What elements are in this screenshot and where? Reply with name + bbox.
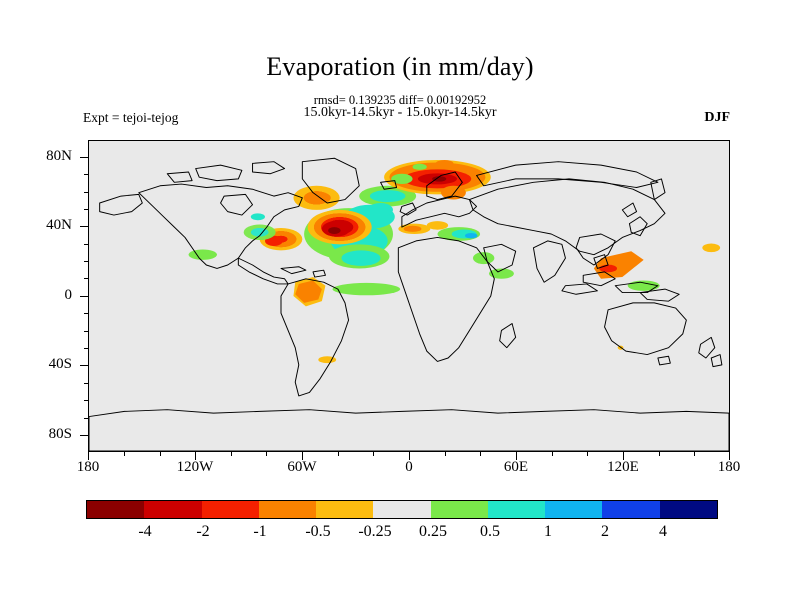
experiment-label: Expt = tejoi-tejog [83, 110, 178, 126]
xtick-label-180e: 180 [694, 459, 764, 476]
season-label: DJF [704, 110, 730, 126]
colorbar-label-1: -2 [173, 523, 233, 541]
colorbar-band-5 [373, 501, 430, 518]
colorbar-band-3 [259, 501, 316, 518]
colorbar-label-9: 4 [633, 523, 693, 541]
xtick-label-180w: 180 [53, 459, 123, 476]
xtick-label-120e: 120E [588, 459, 658, 476]
ytick-label-40n: 40N [12, 217, 72, 234]
colorbar [86, 500, 718, 519]
world-map-svg [89, 141, 729, 451]
xtick-label-0: 0 [374, 459, 444, 476]
xtick-label-60e: 60E [481, 459, 551, 476]
colorbar-band-9 [602, 501, 659, 518]
ytick-label-40s: 40S [12, 356, 72, 373]
colorbar-band-2 [202, 501, 259, 518]
colorbar-band-4 [316, 501, 373, 518]
colorbar-label-7: 1 [518, 523, 578, 541]
colorbar-band-7 [488, 501, 545, 518]
colorbar-label-8: 2 [575, 523, 635, 541]
ytick-label-80n: 80N [12, 148, 72, 165]
colorbar-label-3: -0.5 [288, 523, 348, 541]
colorbar-label-4: -0.25 [345, 523, 405, 541]
colorbar-band-8 [545, 501, 602, 518]
map-plot-area [88, 140, 730, 452]
xtick-label-60w: 60W [267, 459, 337, 476]
colorbar-label-6: 0.5 [460, 523, 520, 541]
colorbar-label-5: 0.25 [403, 523, 463, 541]
xtick-label-120w: 120W [160, 459, 230, 476]
ytick-label-80s: 80S [12, 426, 72, 443]
figure-title: Evaporation (in mm/day) [0, 52, 800, 82]
colorbar-label-2: -1 [230, 523, 290, 541]
ytick-label-0: 0 [12, 287, 72, 304]
colorbar-band-0 [87, 501, 144, 518]
colorbar-band-6 [431, 501, 488, 518]
colorbar-band-10 [660, 501, 717, 518]
colorbar-label-0: -4 [115, 523, 175, 541]
colorbar-band-1 [144, 501, 201, 518]
